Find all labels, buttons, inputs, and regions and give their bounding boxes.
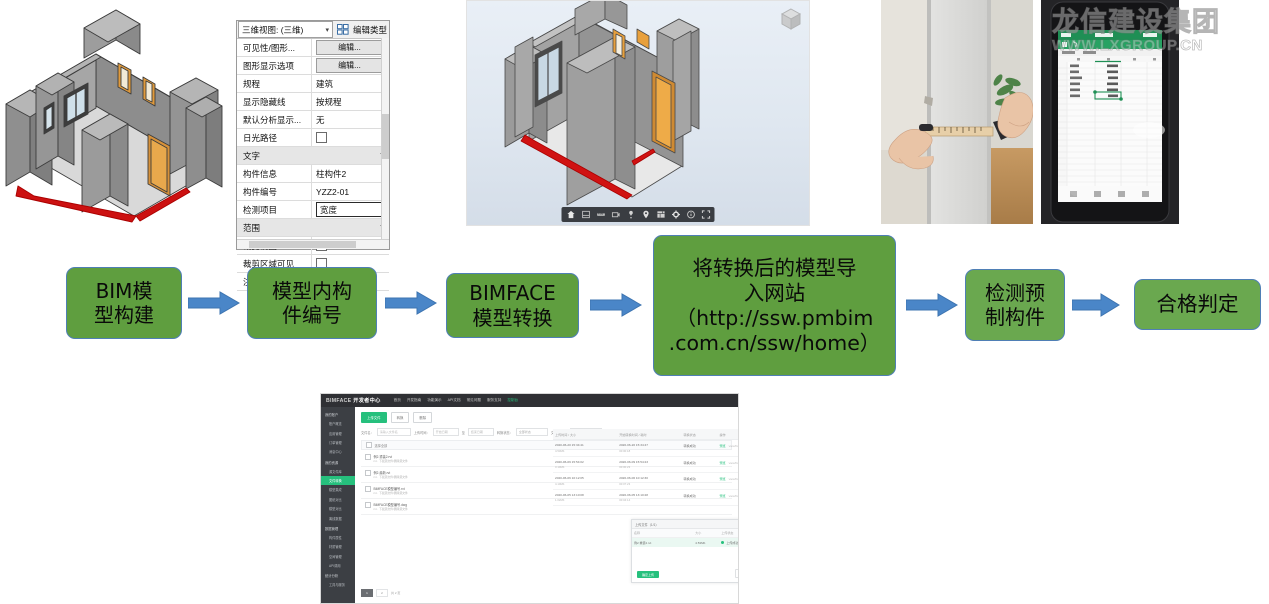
upload-file-size: 4.53Mb: [693, 538, 719, 547]
flow-step-6[interactable]: 合格判定: [1134, 279, 1261, 330]
property-value[interactable]: 建筑: [312, 75, 389, 92]
flow-step-5-label: 检测预制构件: [985, 281, 1045, 330]
file-size: 4.10Mb: [555, 482, 615, 486]
group-title: 范围: [237, 219, 375, 236]
nav-item[interactable]: API文档: [448, 398, 461, 403]
confirm-upload-button[interactable]: 确定上传: [637, 571, 659, 578]
sidebar-item[interactable]: 空间管理: [321, 552, 355, 561]
page-button[interactable]: 2: [376, 589, 388, 597]
mobile-spreadsheet-photo: [1041, 0, 1179, 224]
flow-step-6-label: 合格判定: [1157, 292, 1239, 317]
group-title: 文字: [237, 147, 375, 164]
sidebar-item[interactable]: 应用管理: [321, 428, 355, 437]
property-row[interactable]: 可见性/图形... 编辑...: [237, 39, 389, 57]
file-size: 4.53Mb: [555, 449, 615, 453]
nav-item[interactable]: 开发指南: [407, 398, 421, 403]
site-measurement-photo: [881, 0, 1033, 224]
flow-step-3-label: BIMFACE模型转换: [469, 281, 555, 330]
column-header: 转换状态: [681, 429, 717, 439]
revit-isometric-model: [0, 0, 232, 248]
start-time: 2020-06-05 13:10:28: [619, 493, 648, 497]
column-header: 操作: [717, 429, 739, 439]
chevron-down-icon: ▾: [325, 26, 329, 34]
date-from-input[interactable]: 开始日期: [433, 428, 459, 436]
status-filter-label: 转换状态：: [497, 430, 513, 435]
horizontal-scrollbar[interactable]: [237, 239, 389, 249]
sidebar-item[interactable]: 离线数据: [321, 513, 355, 522]
table-row[interactable]: 2020-06-20 15:34:414.53Mb 2020-06-20 15:…: [553, 440, 739, 457]
page-button-current[interactable]: 1: [361, 589, 373, 597]
slide-canvas: 三维视图: (三维) ▾ 编辑类型 可见性/图形... 编辑...: [0, 0, 1269, 604]
preview-action[interactable]: 预览: [719, 477, 725, 481]
property-key: 构件编号: [237, 183, 312, 200]
revit-properties-palette[interactable]: 三维视图: (三维) ▾ 编辑类型 可见性/图形... 编辑...: [236, 20, 390, 250]
sidebar-item[interactable]: 工具与服务: [321, 580, 355, 589]
upload-file-name: 例2.重装2.rvt: [632, 538, 693, 547]
sidebar-item[interactable]: 图纸对比: [321, 495, 355, 504]
viewer-toolbar[interactable]: [562, 207, 715, 222]
property-value[interactable]: [312, 129, 389, 146]
checkbox[interactable]: [365, 486, 371, 492]
upload-table-header: 名称 大小 上传状态: [632, 529, 739, 538]
table-row[interactable]: 2020-06-05 13:10:081.02Mb 2020-06-05 13:…: [553, 490, 739, 507]
property-row[interactable]: 日光路径: [237, 129, 389, 147]
status-badge: 转换成功: [681, 440, 717, 456]
upload-file-button[interactable]: 上传文件: [361, 412, 387, 423]
checkbox[interactable]: [365, 454, 371, 460]
upload-status: 上传成功 删除: [719, 538, 739, 547]
fullscreen-icon[interactable]: [700, 209, 712, 221]
file-sub[interactable]: rvt · 下载源文件/删除源文件: [374, 491, 408, 495]
info-icon[interactable]: [685, 209, 697, 221]
console-body: 我的账户 账户概览 应用管理 订单管理 消息中心 我的资源 源文件库 文件转换 …: [321, 407, 738, 603]
flow-arrow-1: [188, 291, 240, 315]
file-size: 1.02Mb: [555, 498, 615, 502]
property-value[interactable]: 柱构件2: [312, 165, 389, 182]
checkbox[interactable]: [366, 442, 372, 448]
property-value[interactable]: 编辑...: [312, 39, 389, 56]
sidebar-item[interactable]: 模型集成: [321, 485, 355, 494]
sidebar-group: 统计分析: [321, 570, 355, 580]
nav-item[interactable]: 服务支持: [487, 398, 501, 403]
property-key: 构件信息: [237, 165, 312, 182]
status-badge: 转换成功: [681, 490, 717, 506]
flow-arrow-3: [590, 293, 642, 317]
column-header: 上传状态: [719, 529, 739, 537]
flow-step-4[interactable]: 将转换后的模型导入网站（http://ssw.pmbim.com.cn/ssw/…: [653, 235, 896, 376]
sidebar-item[interactable]: 构件属性: [321, 533, 355, 542]
sidebar-item[interactable]: 订单管理: [321, 438, 355, 447]
viewer-model: [467, 1, 809, 211]
upload-dialog-title: 上传文件（1/1）: [635, 522, 659, 527]
properties-rows: 可见性/图形... 编辑... 图形显示选项 编辑... 规程 建筑 显示隐藏线…: [237, 39, 389, 291]
flow-arrow-5: [1072, 293, 1120, 317]
property-key: 日光路径: [237, 129, 312, 146]
console-main: 上传文件 转换 删除 文件名： 请输入文件名 上传时间： 开始日期 至 结束日期…: [355, 407, 738, 603]
view-type-selector[interactable]: 三维视图: (三维) ▾: [238, 21, 333, 38]
console-sidebar[interactable]: 我的账户 账户概览 应用管理 订单管理 消息中心 我的资源 源文件库 文件转换 …: [321, 407, 355, 603]
scrollbar-thumb[interactable]: [249, 241, 355, 248]
duration: 00:00:18: [619, 449, 679, 453]
section-box-icon[interactable]: [580, 209, 592, 221]
upload-row: 例2.重装2.rvt 4.53Mb 上传成功 删除: [632, 538, 739, 547]
property-key: 规程: [237, 75, 312, 92]
console-nav[interactable]: 首页 开发指南 功能演示 API文档 常见问题 服务支持 控制台: [394, 398, 518, 403]
file-sub[interactable]: rvt · 下载源文件/删除源文件: [374, 475, 408, 479]
property-row[interactable]: 规程 建筑: [237, 75, 389, 93]
file-sub[interactable]: rvt · 下载源文件/删除源文件: [374, 459, 408, 463]
file-size: 3.10Mb: [555, 465, 615, 469]
viewcube-icon[interactable]: [779, 7, 803, 31]
status-select[interactable]: 全部状态: [516, 428, 548, 436]
property-value[interactable]: 编辑...: [312, 57, 389, 74]
preview-action[interactable]: 预览: [719, 444, 725, 448]
nav-item-console[interactable]: 控制台: [507, 398, 518, 403]
sidebar-group: 我的资源: [321, 457, 355, 467]
settings-icon[interactable]: [670, 209, 682, 221]
conversion-table: 上传时间 / 大小 开始转换时间 / 耗时 转换状态 操作 2020-06-20…: [553, 429, 739, 506]
active-input[interactable]: 宽度: [316, 202, 383, 217]
flow-arrow-2: [385, 291, 437, 315]
edit-type-icon[interactable]: [336, 23, 351, 37]
flow-step-1-label: BIM模型构建: [94, 279, 154, 328]
table-row[interactable]: 2020-06-09 15:54:023.10Mb 2020-06-09 15:…: [553, 457, 739, 474]
duration: 00:00:23: [619, 465, 679, 469]
table-header: 上传时间 / 大小 开始转换时间 / 耗时 转换状态 操作: [553, 429, 739, 440]
property-row[interactable]: 构件信息 柱构件2: [237, 165, 389, 183]
status-badge: 转换成功: [681, 473, 717, 489]
bimface-3d-viewer[interactable]: [466, 0, 810, 226]
property-key: 默认分析显示...: [237, 111, 312, 128]
sidebar-item-active[interactable]: 文件转换: [321, 476, 355, 485]
upload-time: 2020-06-09 15:54:02: [555, 460, 584, 464]
action-toolbar[interactable]: 上传文件 转换 删除: [361, 412, 732, 423]
file-sub[interactable]: rvt · 下载源文件/删除源文件: [374, 507, 408, 511]
checkbox[interactable]: [365, 502, 371, 508]
column-header: 上传时间 / 大小: [553, 429, 617, 439]
start-time: 2020-06-20 15:34:47: [619, 443, 648, 447]
property-key: 检测项目: [237, 201, 312, 218]
delete-button[interactable]: 删除: [413, 412, 432, 423]
pagination[interactable]: 1 2 共 2 页: [361, 589, 400, 597]
flow-step-4-label: 将转换后的模型导入网站（http://ssw.pmbim.com.cn/ssw/…: [669, 256, 881, 356]
property-group-header[interactable]: 范围 ⌃: [237, 219, 389, 237]
upload-time-label: 上传时间：: [414, 430, 430, 435]
filename-filter-label: 文件名：: [361, 430, 374, 435]
console-topbar: BIMFACE 开发者中心 首页 开发指南 功能演示 API文档 常见问题 服务…: [321, 394, 738, 407]
sidebar-item[interactable]: 源文件库: [321, 467, 355, 476]
property-row[interactable]: 默认分析显示... 无: [237, 111, 389, 129]
status-select-value: 全部状态: [519, 430, 531, 434]
table-row[interactable]: 2020-06-06 10:12:054.10Mb 2020-06-06 10:…: [553, 473, 739, 490]
logo-text: BIMFACE: [326, 398, 351, 404]
upload-time: 2020-06-20 15:34:41: [555, 443, 584, 447]
viewtoken-action[interactable]: viewToken: [729, 494, 739, 498]
flow-arrow-4: [906, 293, 958, 317]
property-row[interactable]: 检测项目 宽度: [237, 201, 389, 219]
floorplan-icon[interactable]: [655, 209, 667, 221]
logo-suffix: 开发者中心: [353, 398, 380, 404]
select-all-label: 选择全部: [375, 443, 388, 448]
viewtoken-action[interactable]: viewToken: [729, 461, 739, 465]
property-row[interactable]: 构件编号 YZZ2-01: [237, 183, 389, 201]
column-header: 开始转换时间 / 耗时: [617, 429, 681, 439]
flow-step-2[interactable]: 模型内构件编号: [247, 267, 377, 339]
sidebar-group: 数据管理: [321, 523, 355, 533]
bimface-logo: BIMFACE 开发者中心: [326, 397, 381, 404]
upload-time: 2020-06-05 13:10:08: [555, 493, 584, 497]
sidebar-item[interactable]: 模型对比: [321, 504, 355, 513]
convert-button[interactable]: 转换: [391, 412, 410, 423]
scrollbar-thumb[interactable]: [382, 114, 389, 158]
property-value[interactable]: 按规程: [312, 93, 389, 110]
sidebar-item[interactable]: API调用: [321, 561, 355, 570]
sidebar-item[interactable]: 消息中心: [321, 447, 355, 456]
column-header: 大小: [693, 529, 719, 537]
upload-dialog[interactable]: 上传文件（1/1） —× 名称 大小 上传状态 例2.重装2.rvt 4.53M…: [631, 519, 739, 583]
viewtoken-action[interactable]: viewToken: [729, 444, 739, 448]
flow-step-1[interactable]: BIM模型构建: [66, 267, 182, 339]
measure-icon[interactable]: [595, 209, 607, 221]
date-to-input[interactable]: 结束日期: [468, 428, 494, 436]
walkthrough-icon[interactable]: [610, 209, 622, 221]
sidebar-group: 我的账户: [321, 409, 355, 419]
nav-item[interactable]: 常见问题: [467, 398, 481, 403]
status-badge: 转换成功: [681, 457, 717, 473]
edit-button[interactable]: 编辑...: [316, 58, 383, 73]
sidebar-item[interactable]: 账户概览: [321, 419, 355, 428]
property-row[interactable]: 显示隐藏线 按规程: [237, 93, 389, 111]
property-value[interactable]: 宽度: [312, 201, 389, 218]
property-value[interactable]: 无: [312, 111, 389, 128]
property-row[interactable]: 图形显示选项 编辑...: [237, 57, 389, 75]
start-time: 2020-06-06 10:12:30: [619, 476, 648, 480]
property-key: 显示隐藏线: [237, 93, 312, 110]
duration: 00:04:14: [619, 498, 679, 502]
view-type-label: 三维视图: (三维): [242, 24, 303, 36]
page-info: 共 2 页: [391, 591, 400, 595]
preview-action[interactable]: 预览: [719, 461, 725, 465]
sidebar-item[interactable]: 材质管理: [321, 542, 355, 551]
filename-input[interactable]: 请输入文件名: [377, 428, 411, 436]
upload-status-text: 上传成功: [726, 541, 738, 545]
upload-time: 2020-06-06 10:12:05: [555, 476, 584, 480]
flow-step-3[interactable]: BIMFACE模型转换: [446, 273, 579, 338]
edit-type-label[interactable]: 编辑类型: [351, 24, 389, 36]
duration: 00:07:23: [619, 482, 679, 486]
property-key: 图形显示选项: [237, 57, 312, 74]
flow-step-5[interactable]: 检测预制构件: [965, 269, 1065, 341]
vertical-scrollbar[interactable]: [381, 38, 389, 239]
start-time: 2020-06-09 15:54:23: [619, 460, 648, 464]
checkbox[interactable]: [316, 132, 327, 143]
column-header: 名称: [632, 529, 693, 537]
property-group-header[interactable]: 文字 ⌃: [237, 147, 389, 165]
leader-icon[interactable]: [625, 209, 637, 221]
bimface-console-screenshot[interactable]: BIMFACE 开发者中心 首页 开发指南 功能演示 API文档 常见问题 服务…: [320, 393, 739, 604]
property-key: 可见性/图形...: [237, 39, 312, 56]
nav-item[interactable]: 功能演示: [427, 398, 441, 403]
home-icon[interactable]: [565, 209, 577, 221]
properties-header: 三维视图: (三维) ▾ 编辑类型: [237, 21, 389, 39]
upload-dialog-header: 上传文件（1/1） —×: [632, 520, 739, 529]
close-dialog-button[interactable]: 关闭窗口: [735, 569, 739, 578]
date-range-separator: 至: [462, 430, 465, 435]
property-value[interactable]: YZZ2-01: [312, 183, 389, 200]
flow-step-2-label: 模型内构件编号: [272, 279, 352, 328]
nav-item[interactable]: 首页: [394, 398, 401, 403]
marker-icon[interactable]: [640, 209, 652, 221]
checkbox[interactable]: [365, 470, 371, 476]
success-icon: [721, 541, 724, 544]
preview-action[interactable]: 预览: [719, 494, 725, 498]
edit-button[interactable]: 编辑...: [316, 40, 383, 55]
viewtoken-action[interactable]: viewToken: [729, 477, 739, 481]
